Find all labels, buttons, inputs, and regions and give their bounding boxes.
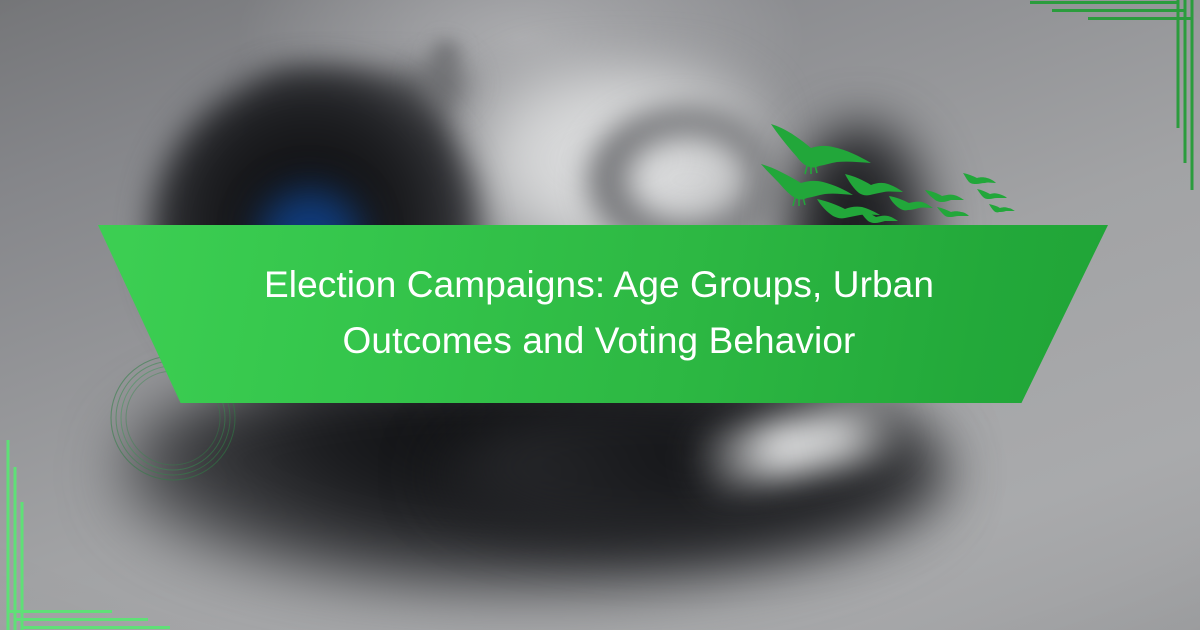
corner-lines-top-right [1030, 0, 1200, 200]
page-title-line-1: Election Campaigns: Age Groups, Urban [264, 264, 934, 305]
page-title-line-2: Outcomes and Voting Behavior [343, 320, 856, 361]
birds-icon [755, 112, 1015, 227]
social-share-card: Election Campaigns: Age Groups, Urban Ou… [0, 0, 1200, 630]
page-title: Election Campaigns: Age Groups, Urban Ou… [219, 257, 979, 371]
title-banner: Election Campaigns: Age Groups, Urban Ou… [90, 222, 1108, 406]
corner-lines-bottom-left [0, 430, 170, 630]
